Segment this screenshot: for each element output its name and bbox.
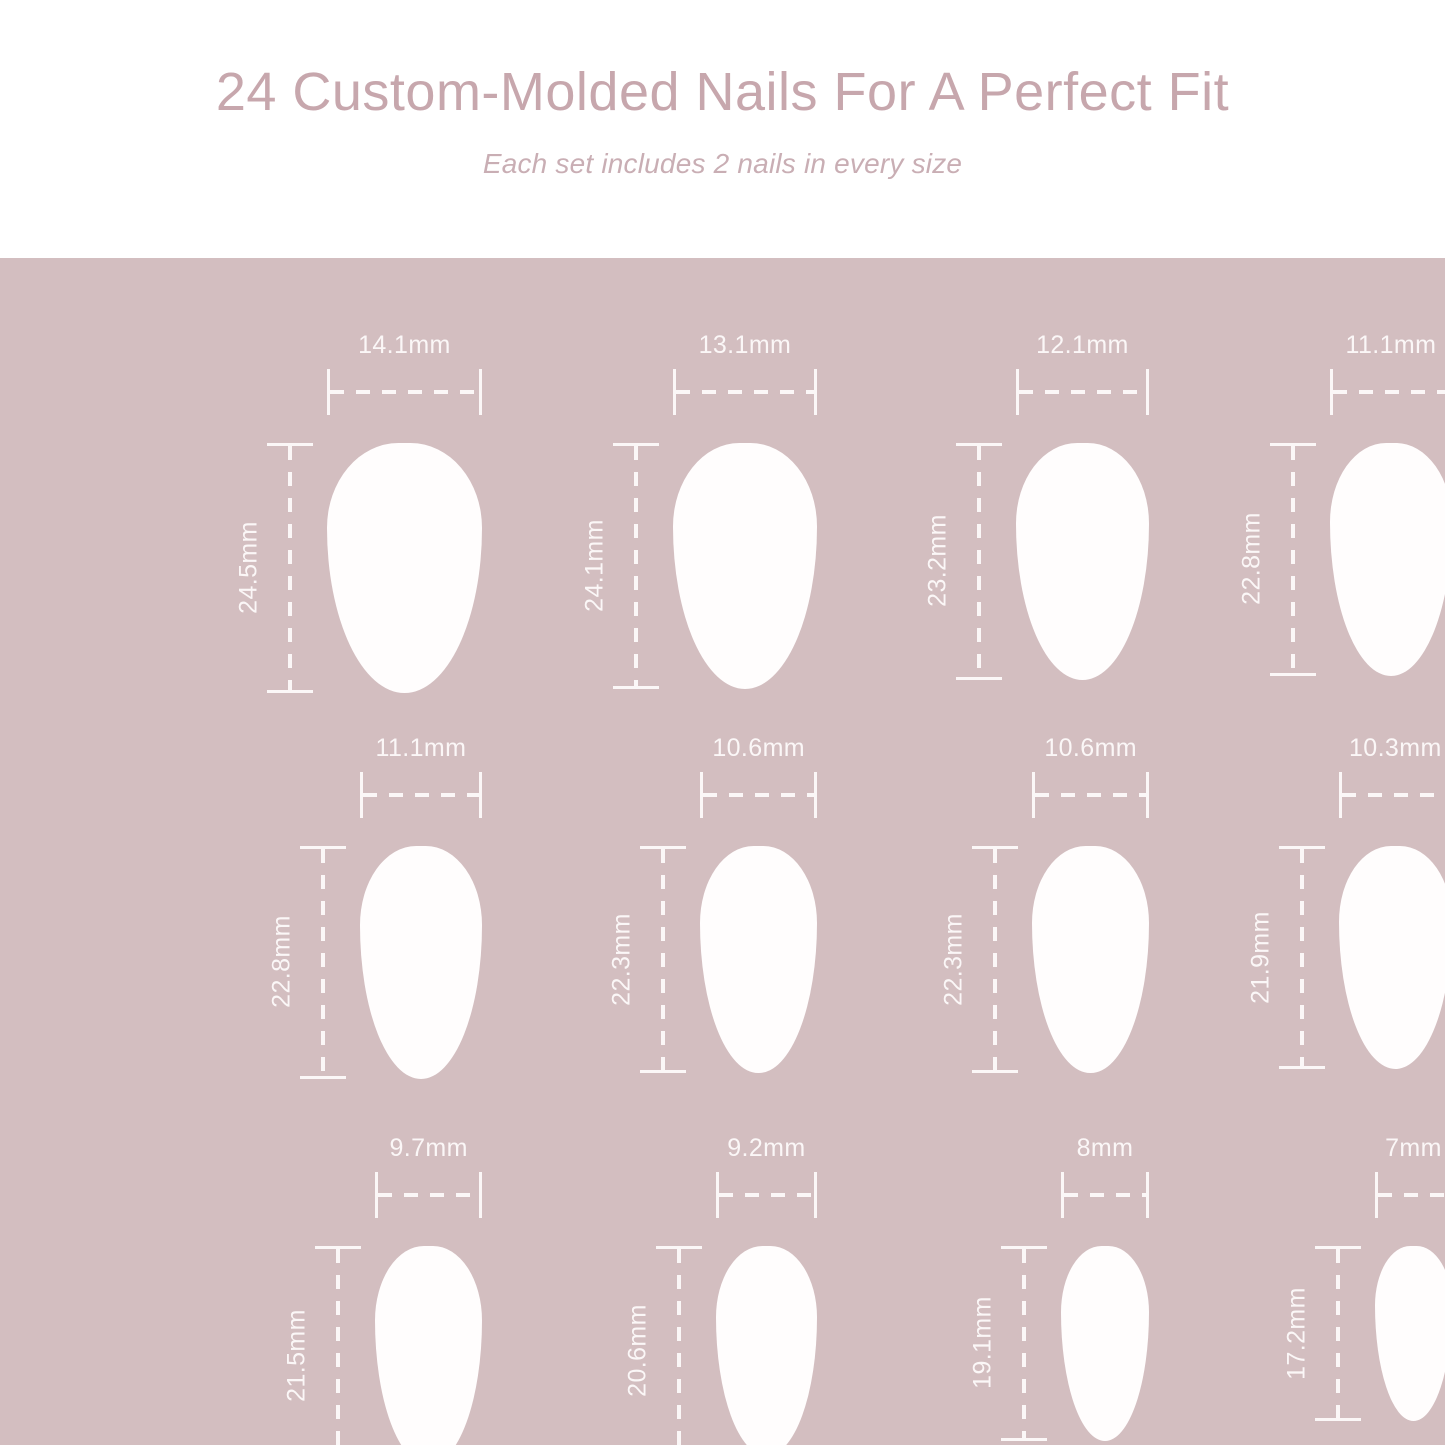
nail-length-label: 20.6mm [625, 1286, 650, 1416]
dimension-cap-bottom [613, 686, 659, 689]
nail-length-label: 22.8mm [269, 897, 294, 1027]
nail-width-label: 8mm [1001, 1136, 1209, 1161]
dimension-cap-bottom [640, 1070, 686, 1073]
dimension-dash [1336, 1249, 1340, 1418]
nail-width-label: 13.1mm [613, 333, 877, 358]
dimension-dash [321, 849, 325, 1076]
dimension-cap-bottom [1279, 1066, 1325, 1069]
dimension-dash [1064, 1193, 1146, 1197]
dimension-dash [977, 446, 981, 677]
dimension-cap-right [1146, 772, 1149, 818]
nail-grid: 14.1mm24.5mm13.1mm24.1mm12.1mm23.2mm11.1… [0, 258, 1445, 1445]
nail-width-dimension-line [1061, 1172, 1149, 1218]
nail-length-label: 17.2mm [1285, 1268, 1310, 1398]
dimension-dash [1019, 390, 1146, 394]
dimension-cap-bottom [1315, 1418, 1361, 1421]
nail-length-dimension-line [315, 1246, 361, 1445]
dimension-dash [677, 1249, 681, 1445]
nail-length-label: 24.5mm [236, 502, 261, 632]
dimension-cap-right [1146, 369, 1149, 415]
nail-length-dimension-line [1270, 443, 1316, 676]
dimension-cap-bottom [956, 677, 1002, 680]
dimension-cap-bottom [1001, 1438, 1047, 1441]
nail-width-dimension-line [1016, 369, 1149, 415]
nail-length-dimension-line [656, 1246, 702, 1445]
dimension-dash [1035, 793, 1146, 797]
nail-width-label: 10.3mm [1279, 736, 1445, 761]
dimension-dash [363, 793, 479, 797]
dimension-dash [703, 793, 814, 797]
nail-length-dimension-line [972, 846, 1018, 1073]
nail-shape [673, 443, 817, 689]
dimension-cap-right [1146, 1172, 1149, 1218]
header: 24 Custom-Molded Nails For A Perfect Fit… [0, 0, 1445, 258]
nail-width-label: 10.6mm [972, 736, 1209, 761]
dimension-dash [336, 1249, 340, 1445]
dimension-dash [330, 390, 479, 394]
nail-width-label: 7mm [1315, 1136, 1445, 1161]
nail-width-label: 9.2mm [656, 1136, 877, 1161]
nail-size-chart-page: 24 Custom-Molded Nails For A Perfect Fit… [0, 0, 1445, 1445]
nail-width-label: 10.6mm [640, 736, 877, 761]
nail-width-label: 14.1mm [267, 333, 542, 358]
dimension-dash [1022, 1249, 1026, 1438]
nail-shape [360, 846, 482, 1079]
nail-width-label: 12.1mm [956, 333, 1209, 358]
dimension-cap-right [479, 369, 482, 415]
nail-length-dimension-line [267, 443, 313, 693]
dimension-cap-right [814, 1172, 817, 1218]
nail-length-label: 21.5mm [285, 1290, 310, 1420]
dimension-cap-right [479, 1172, 482, 1218]
nail-shape [327, 443, 482, 693]
nail-length-dimension-line [956, 443, 1002, 680]
nail-width-label: 9.7mm [315, 1136, 542, 1161]
nail-length-dimension-line [1279, 846, 1325, 1069]
nail-shape [1016, 443, 1149, 680]
nail-cell: 7mm17.2mm [0, 258, 1445, 259]
nail-width-dimension-line [327, 369, 482, 415]
nail-width-dimension-line [375, 1172, 482, 1218]
page-title: 24 Custom-Molded Nails For A Perfect Fit [216, 62, 1229, 122]
nail-length-label: 22.8mm [1239, 494, 1264, 624]
nail-width-dimension-line [1032, 772, 1149, 818]
dimension-dash [1333, 390, 1445, 394]
nail-shape [1375, 1246, 1445, 1421]
dimension-dash [288, 446, 292, 690]
nail-width-dimension-line [1330, 369, 1445, 415]
nail-length-label: 24.1mm [582, 500, 607, 630]
nail-length-label: 22.3mm [942, 894, 967, 1024]
nail-length-dimension-line [640, 846, 686, 1073]
dimension-cap-right [479, 772, 482, 818]
nail-width-dimension-line [360, 772, 482, 818]
dimension-dash [378, 1193, 479, 1197]
dimension-dash [661, 849, 665, 1070]
nail-width-label: 11.1mm [300, 736, 542, 761]
nail-shape [1330, 443, 1445, 676]
dimension-dash [1291, 446, 1295, 673]
nail-width-dimension-line [700, 772, 817, 818]
nail-length-dimension-line [1315, 1246, 1361, 1421]
dimension-dash [634, 446, 638, 686]
dimension-cap-bottom [300, 1076, 346, 1079]
nail-length-label: 19.1mm [971, 1278, 996, 1408]
dimension-cap-bottom [972, 1070, 1018, 1073]
nail-length-label: 22.3mm [610, 894, 635, 1024]
nail-length-dimension-line [1001, 1246, 1047, 1441]
dimension-dash [676, 390, 814, 394]
nail-shape [716, 1246, 817, 1445]
nail-shape [375, 1246, 482, 1445]
nail-length-label: 21.9mm [1248, 892, 1273, 1022]
dimension-cap-bottom [1270, 673, 1316, 676]
dimension-cap-right [814, 772, 817, 818]
dimension-cap-bottom [267, 690, 313, 693]
nail-shape [700, 846, 817, 1073]
dimension-dash [993, 849, 997, 1070]
nail-shape [1061, 1246, 1149, 1441]
dimension-dash [1300, 849, 1304, 1066]
nail-width-dimension-line [1375, 1172, 1445, 1218]
nail-width-dimension-line [673, 369, 817, 415]
nail-width-dimension-line [1339, 772, 1445, 818]
nail-shape [1032, 846, 1149, 1073]
dimension-dash [1342, 793, 1445, 797]
dimension-dash [1378, 1193, 1445, 1197]
nail-width-label: 11.1mm [1270, 333, 1445, 358]
nail-length-label: 23.2mm [925, 496, 950, 626]
dimension-cap-right [814, 369, 817, 415]
page-subtitle: Each set includes 2 nails in every size [483, 148, 962, 180]
nail-shape [1339, 846, 1445, 1069]
nail-length-dimension-line [613, 443, 659, 689]
nail-length-dimension-line [300, 846, 346, 1079]
dimension-dash [719, 1193, 814, 1197]
nail-width-dimension-line [716, 1172, 817, 1218]
